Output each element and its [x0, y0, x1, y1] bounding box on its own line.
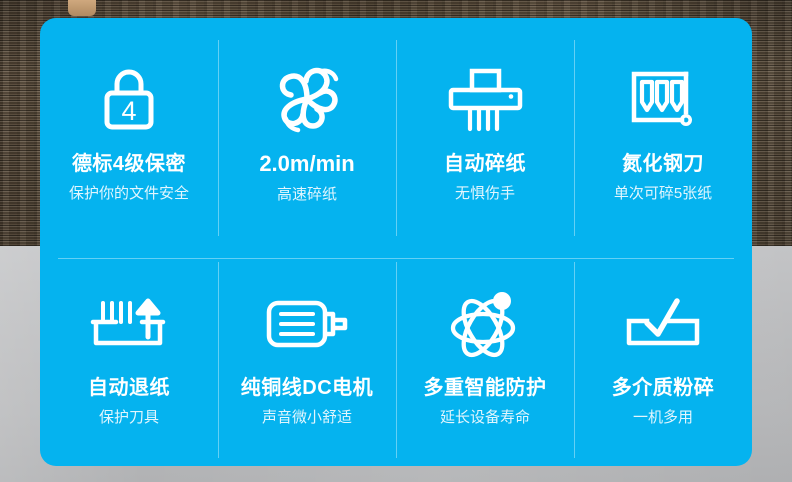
- feature-subtitle: 声音微小舒适: [262, 409, 352, 428]
- multi-media-slot-icon: [620, 284, 706, 364]
- feature-title: 多重智能防护: [424, 376, 547, 400]
- feature-subtitle: 延长设备寿命: [440, 409, 530, 428]
- feature-cell-blades[interactable]: 氮化钢刀 单次可碎5张纸: [574, 18, 752, 242]
- auto-paper-eject-icon: [86, 284, 172, 364]
- background-object: [68, 0, 96, 16]
- lock-level4-icon: 4: [92, 60, 166, 140]
- feature-title: 多介质粉碎: [612, 376, 715, 400]
- divider-vertical: [396, 40, 397, 236]
- feature-subtitle: 保护你的文件安全: [69, 185, 189, 204]
- divider-vertical: [218, 40, 219, 236]
- feature-title: 德标4级保密: [72, 152, 186, 176]
- feature-subtitle: 高速碎纸: [277, 186, 337, 205]
- feature-cell-multi-media[interactable]: 多介质粉碎 一机多用: [574, 242, 752, 466]
- product-feature-banner: 4 德标4级保密 保护你的文件安全: [0, 0, 792, 482]
- steel-blades-icon: [624, 60, 702, 140]
- atom-protection-icon: [445, 284, 525, 364]
- feature-subtitle: 单次可碎5张纸: [614, 185, 712, 204]
- divider-horizontal: [58, 258, 734, 259]
- feature-title: 自动碎纸: [444, 152, 526, 176]
- feature-cell-speed[interactable]: 2.0m/min 高速碎纸: [218, 18, 396, 242]
- feature-cell-security-level[interactable]: 4 德标4级保密 保护你的文件安全: [40, 18, 218, 242]
- feature-title: 氮化钢刀: [622, 152, 704, 176]
- fan-pinwheel-icon: [268, 59, 346, 139]
- feature-subtitle: 无惧伤手: [455, 185, 515, 204]
- feature-title: 纯铜线DC电机: [241, 376, 373, 400]
- feature-title: 2.0m/min: [259, 151, 354, 177]
- feature-cell-motor[interactable]: 纯铜线DC电机 声音微小舒适: [218, 242, 396, 466]
- feature-cell-auto-shred[interactable]: 自动碎纸 无惧伤手: [396, 18, 574, 242]
- dc-motor-icon: [261, 284, 353, 364]
- lock-level-number: 4: [121, 96, 136, 126]
- feature-cell-auto-eject[interactable]: 自动退纸 保护刀具: [40, 242, 218, 466]
- divider-vertical: [574, 40, 575, 236]
- divider-vertical: [574, 262, 575, 458]
- paper-shredder-icon: [442, 60, 528, 140]
- feature-title: 自动退纸: [88, 376, 170, 400]
- divider-vertical: [218, 262, 219, 458]
- feature-subtitle: 保护刀具: [99, 409, 159, 428]
- feature-card: 4 德标4级保密 保护你的文件安全: [40, 18, 752, 466]
- feature-subtitle: 一机多用: [633, 409, 693, 428]
- divider-vertical: [396, 262, 397, 458]
- feature-cell-protection[interactable]: 多重智能防护 延长设备寿命: [396, 242, 574, 466]
